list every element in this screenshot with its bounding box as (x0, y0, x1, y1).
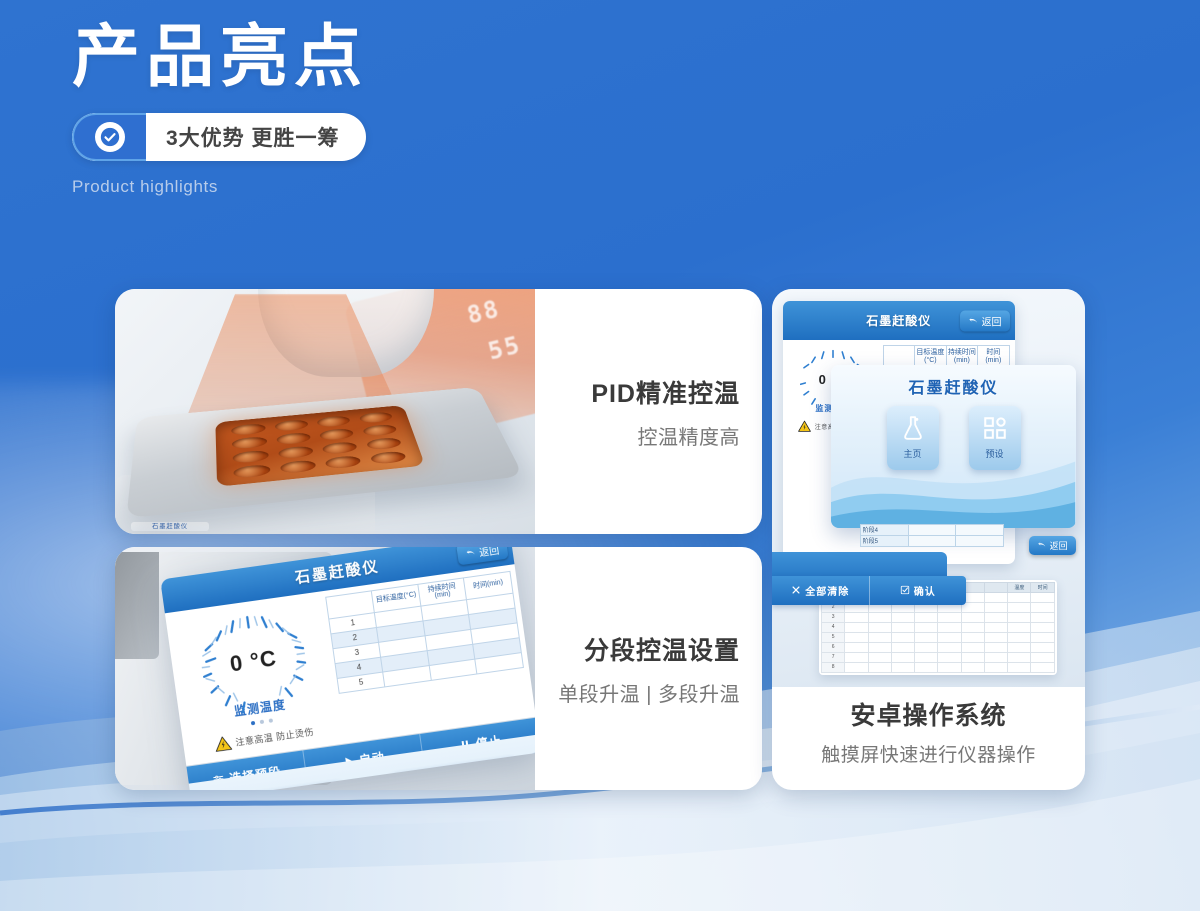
card-c-subtitle: 触摸屏快速进行仪器操作 (821, 740, 1036, 767)
back-label: 返回 (478, 547, 500, 559)
back-arrow-icon (968, 315, 979, 326)
dialog-home-label: 主页 (904, 447, 922, 460)
instrument-dark-panel (115, 552, 159, 659)
sample-well (317, 416, 352, 428)
temperature-gauge: 0 °C (194, 603, 311, 720)
warning-text: 注意高温 防止烫伤 (234, 725, 314, 749)
home-tile[interactable]: 主页 (216, 780, 350, 790)
touchscreen[interactable]: 石墨赶酸仪 返回 (160, 547, 535, 790)
page-dots (251, 718, 273, 725)
sample-well (365, 437, 402, 450)
panel-digit-top: 88 (464, 295, 503, 330)
back-arrow-icon (464, 547, 476, 559)
grid-apps-icon (982, 415, 1008, 441)
sample-well (369, 451, 407, 465)
dialog-title: 石墨赶酸仪 (909, 374, 999, 398)
clear-all-label: 全部清除 (805, 583, 849, 598)
dialog-home-tile[interactable]: 主页 (887, 406, 939, 470)
dialog-back-button[interactable]: 返回 (1029, 536, 1076, 555)
stage-label: 阶段4 (860, 524, 909, 535)
confirm-button[interactable]: 确认 (870, 576, 967, 606)
android-action-bar: 全部清除 确认 (772, 576, 966, 606)
confirm-label: 确认 (914, 583, 936, 598)
clear-all-button[interactable]: 全部清除 (772, 576, 870, 606)
sample-well (231, 423, 265, 436)
gauge-value: 0 °C (194, 603, 311, 720)
close-x-icon (791, 585, 801, 595)
check-circle-icon (95, 122, 125, 152)
page-title: 产品亮点 (72, 22, 368, 93)
card-b-text: 分段控温设置 单段升温 | 多段升温 (535, 547, 762, 790)
highlight-cards: 88 55 石墨赶酸仪 (115, 289, 1085, 790)
grid-row-number: 6 (821, 642, 844, 652)
card-c-text: 安卓操作系统 触摸屏快速进行仪器操作 (772, 687, 1085, 790)
panel-digit-bottom: 55 (485, 330, 524, 365)
stage-label: 阶段5 (860, 535, 909, 546)
sample-wells (231, 412, 407, 479)
dialog-back-label: 返回 (1050, 539, 1068, 552)
grid-row-number: 8 (821, 662, 844, 672)
sample-well (362, 424, 398, 437)
grid-row-number: 7 (821, 652, 844, 662)
highlight-badge: 3大优势 更胜一筹 (72, 113, 366, 161)
high-temperature-warning: 注意高温 防止烫伤 (213, 723, 314, 754)
preset-tile[interactable]: 预设 (390, 756, 524, 790)
grid-row[interactable]: 6 (821, 642, 1054, 652)
flask-icon (900, 415, 926, 441)
sample-well (322, 441, 358, 455)
warning-triangle-icon (213, 734, 232, 753)
stage-rows-table[interactable]: 阶段4 阶段5 (860, 524, 1004, 547)
card-a-subtitle: 控温精度高 (638, 421, 741, 450)
android-screen-header: 石墨赶酸仪 返回 (783, 301, 1015, 340)
android-ui-screens: 石墨赶酸仪 返回 (772, 289, 1085, 687)
stage-row[interactable]: 阶段4 (860, 524, 1003, 535)
grid-row[interactable]: 4 (821, 622, 1054, 632)
card-pid-temperature-control[interactable]: 88 55 石墨赶酸仪 (115, 289, 762, 534)
grid-row-number: 3 (821, 612, 844, 622)
brand-label: 石墨赶酸仪 (131, 522, 209, 531)
grid-apps-icon (445, 775, 468, 790)
android-back-button[interactable]: 返回 (960, 310, 1010, 331)
android-back-label: 返回 (982, 313, 1002, 328)
badge-text-area: 3大优势 更胜一筹 (146, 113, 366, 161)
sample-well (278, 446, 314, 460)
warning-triangle-icon (798, 420, 811, 433)
instrument-touchscreen-photo: 石墨赶酸仪 返回 (115, 547, 535, 790)
grid-row[interactable]: 3 (821, 612, 1054, 622)
screen-title: 石墨赶酸仪 (293, 556, 380, 589)
badge-label: 3大优势 更胜一筹 (166, 122, 340, 152)
sample-well (276, 432, 311, 445)
android-home-dialog[interactable]: 石墨赶酸仪 主页 预设 (831, 365, 1075, 528)
card-b-title: 分段控温设置 (584, 631, 740, 667)
dialog-preset-label: 预设 (986, 447, 1004, 460)
sample-well (234, 464, 271, 479)
page-header: 产品亮点 3大优势 更胜一筹 Product highlights (72, 22, 368, 197)
card-a-title: PID精准控温 (591, 374, 740, 410)
checkbox-check-icon (900, 585, 910, 595)
heated-sample-block-photo: 88 55 石墨赶酸仪 (115, 289, 535, 534)
grid-row[interactable]: 7 (821, 652, 1054, 662)
sample-well (274, 419, 309, 432)
stage-row[interactable]: 阶段5 (860, 535, 1003, 546)
card-a-text: PID精准控温 控温精度高 (535, 289, 762, 534)
grid-header-time: 时间 (1031, 582, 1054, 592)
sample-well (358, 412, 393, 424)
sample-well (319, 428, 355, 441)
back-button[interactable]: 返回 (456, 547, 508, 565)
dialog-tiles: 主页 预设 (887, 406, 1021, 470)
sample-well-pad (216, 405, 425, 486)
gauge-column: 0 °C 监测温度 注意高温 防止烫伤 (168, 595, 343, 766)
sample-well (233, 450, 269, 464)
page-subtitle: Product highlights (72, 177, 368, 197)
grid-row-number: 4 (821, 622, 844, 632)
android-screen-title: 石墨赶酸仪 (866, 312, 931, 329)
grid-row[interactable]: 8 (821, 662, 1054, 672)
card-b-subtitle: 单段升温 | 多段升温 (558, 678, 740, 707)
grid-header-temp: 温度 (1008, 582, 1031, 592)
card-android-operating-system[interactable]: 石墨赶酸仪 返回 (772, 289, 1085, 790)
back-arrow-icon (1037, 540, 1047, 550)
sample-well (232, 436, 267, 449)
program-table[interactable]: 目标温度(°C) 持续时间(min) 时间(min) 1 2 3 4 5 (323, 568, 533, 743)
sample-well (325, 455, 362, 469)
grid-row-number: 5 (821, 632, 844, 642)
badge-icon-area (72, 113, 146, 161)
dialog-preset-tile[interactable]: 预设 (969, 406, 1021, 470)
card-segmented-temperature-setting[interactable]: 石墨赶酸仪 返回 (115, 547, 762, 790)
card-c-title: 安卓操作系统 (850, 696, 1006, 732)
grid-row[interactable]: 5 (821, 632, 1054, 642)
sample-well (279, 460, 316, 474)
